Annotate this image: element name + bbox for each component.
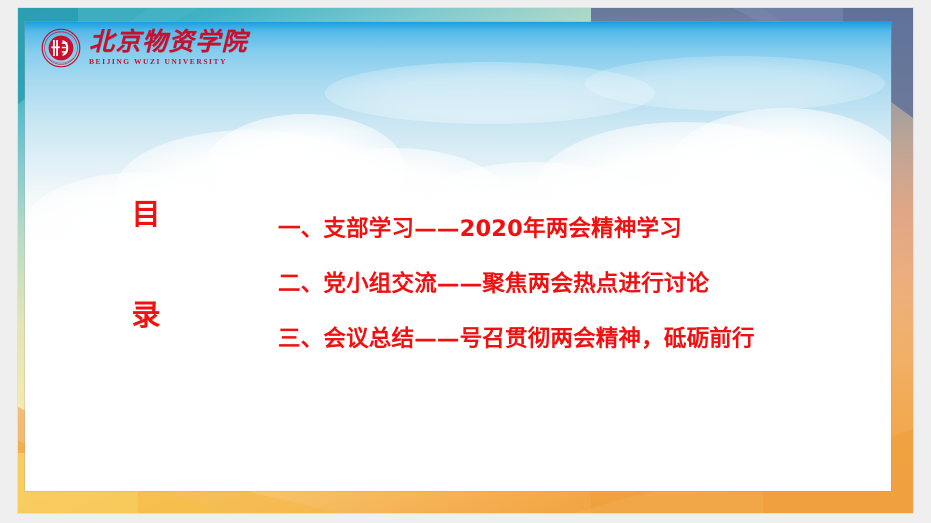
cloud-wisp-upper-left [325,62,655,124]
university-name-cn: 北京物资学院 [89,30,248,55]
university-wordmark: 北京物资学院 BEIJING WUZI UNIVERSITY [89,30,248,66]
toc-heading: 目 录 [121,200,171,330]
cloud-wisp-upper-right [585,56,885,111]
university-logo: 北京物资学院 BEIJING WUZI UNIVERSITY [41,28,248,68]
university-emblem-icon [41,28,81,68]
slide-content-panel: 北京物资学院 BEIJING WUZI UNIVERSITY 目 录 一、支部学… [25,22,891,491]
university-name-en: BEIJING WUZI UNIVERSITY [89,58,227,66]
toc-item-3[interactable]: 三、会议总结——号召贯彻两会精神，砥砺前行 [278,312,755,367]
slide-canvas: 北京物资学院 BEIJING WUZI UNIVERSITY 目 录 一、支部学… [18,8,913,513]
slide-page: 北京物资学院 BEIJING WUZI UNIVERSITY 目 录 一、支部学… [0,0,931,523]
toc-heading-char-2: 录 [131,301,160,330]
toc-item-1[interactable]: 一、支部学习——2020年两会精神学习 [278,202,755,257]
toc-list: 一、支部学习——2020年两会精神学习 二、党小组交流——聚焦两会热点进行讨论 … [278,202,755,367]
toc-heading-char-1: 目 [131,200,160,229]
toc-item-2[interactable]: 二、党小组交流——聚焦两会热点进行讨论 [278,257,755,312]
